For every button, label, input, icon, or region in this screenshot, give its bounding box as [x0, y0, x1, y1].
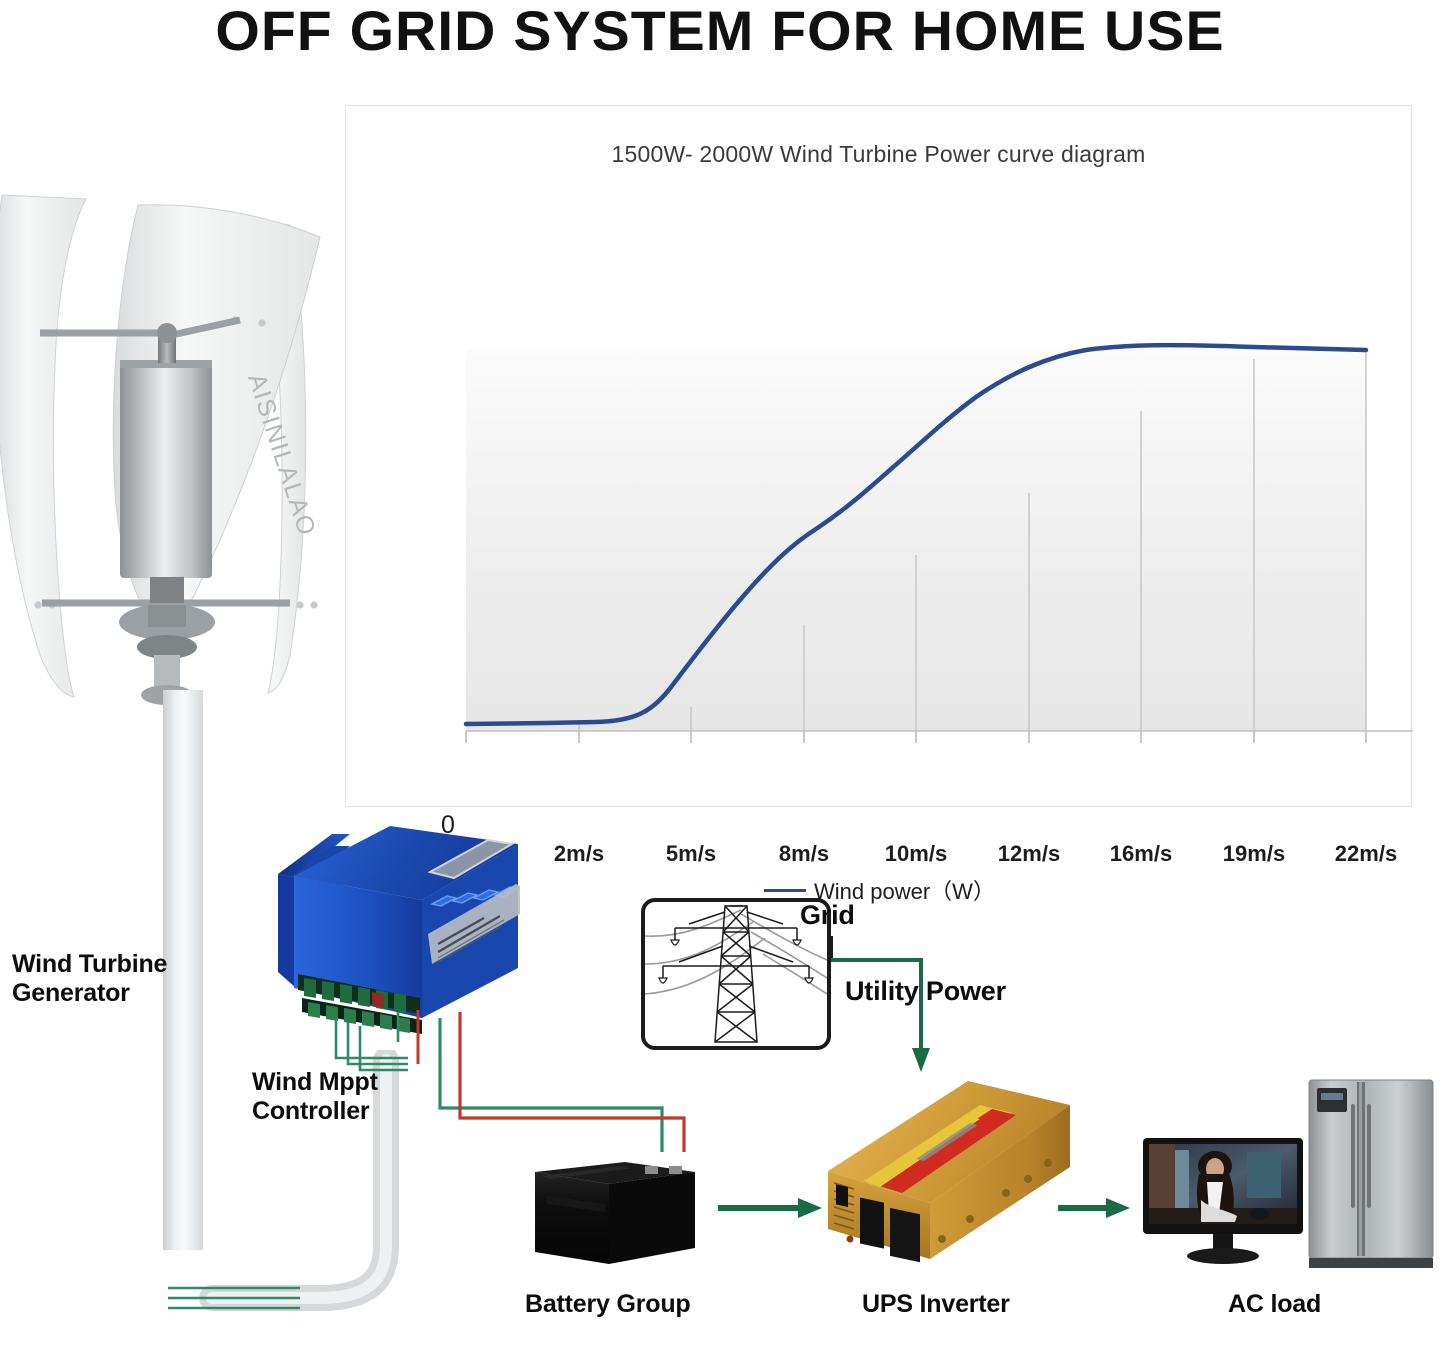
turbine-blade-left: [0, 195, 86, 697]
battery-terminal-negative: [645, 1166, 658, 1174]
chart-plot-area: [346, 339, 1413, 749]
turbine-label-line2: Generator: [12, 979, 262, 1008]
tv-ac-load: [1143, 1138, 1303, 1268]
power-curve-svg: [346, 339, 1413, 749]
x-tick-3: 8m/s: [779, 841, 829, 867]
refrigerator-ac-load: [1307, 1078, 1435, 1270]
grid-label: Grid: [800, 900, 855, 931]
chart-x-tick-labels: 0 2m/s 5m/s 8m/s 10m/s 12m/s 16m/s 19m/s…: [466, 841, 1366, 875]
fridge-handle-left: [1351, 1104, 1355, 1208]
battery-front-face: [535, 1172, 609, 1264]
battery-right-face: [609, 1172, 695, 1264]
battery-terminal-positive: [669, 1166, 682, 1174]
x-tick-4: 10m/s: [885, 841, 947, 867]
page-title: OFF GRID SYSTEM FOR HOME USE: [0, 0, 1440, 63]
arrow-battery-to-inverter: [718, 1198, 822, 1218]
turbine-lower-hub: [119, 577, 215, 705]
inverter-power-switch: [836, 1184, 848, 1207]
x-tick-1: 2m/s: [554, 841, 604, 867]
wind-mppt-controller-label: Wind Mppt Controller: [252, 1068, 482, 1126]
utility-power-label: Utility Power: [845, 976, 1006, 1007]
wind-mppt-controller: [272, 822, 528, 1037]
turbine-generator-body: [120, 360, 212, 578]
wind-turbine-generator: AISINILALAO: [0, 185, 350, 725]
x-tick-5: 12m/s: [998, 841, 1060, 867]
chart-x-axis: [466, 731, 1413, 743]
controller-label-line1: Wind Mppt: [252, 1068, 482, 1097]
chart-title: 1500W- 2000W Wind Turbine Power curve di…: [346, 141, 1411, 168]
legend-line-swatch: [764, 889, 806, 892]
pylon-lattice: [663, 906, 809, 1042]
inverter-socket-right: [890, 1208, 920, 1262]
ups-inverter: [820, 1063, 1110, 1273]
inverter-socket-left: [860, 1198, 884, 1249]
x-tick-6: 16m/s: [1110, 841, 1172, 867]
ups-inverter-label: UPS Inverter: [862, 1290, 1010, 1319]
fridge-base: [1309, 1258, 1433, 1268]
x-tick-2: 5m/s: [666, 841, 716, 867]
controller-label-line2: Controller: [252, 1097, 482, 1126]
tv-stand-neck: [1213, 1234, 1233, 1250]
x-tick-8: 22m/s: [1335, 841, 1397, 867]
fridge-handle-right: [1367, 1104, 1371, 1208]
battery-group-label: Battery Group: [525, 1290, 690, 1319]
turbine-label-line1: Wind Turbine: [12, 950, 262, 979]
battery-group: [517, 1152, 699, 1270]
x-tick-7: 19m/s: [1223, 841, 1285, 867]
tv-stand-base: [1187, 1248, 1259, 1264]
ac-load-label: AC load: [1228, 1290, 1321, 1319]
turbine-upper-hub: [157, 323, 177, 363]
chart-panel: 1500W- 2000W Wind Turbine Power curve di…: [345, 105, 1412, 807]
wind-turbine-generator-label: Wind Turbine Generator: [12, 950, 262, 1008]
